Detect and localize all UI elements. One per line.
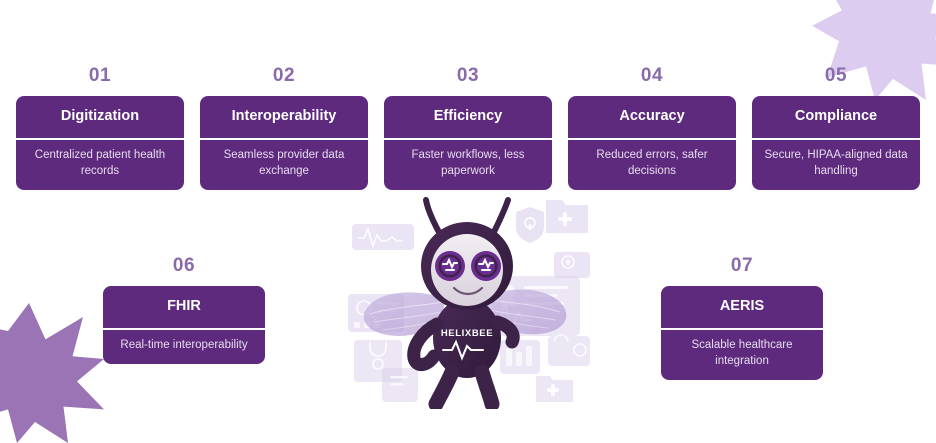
head (421, 222, 513, 310)
eye-right (471, 251, 501, 281)
eye-left (435, 251, 465, 281)
card-title: Digitization (16, 96, 184, 138)
card-body: AERIS Scalable healthcare integration (661, 286, 823, 380)
card-number: 03 (457, 66, 479, 85)
card-number: 05 (825, 66, 847, 85)
card-title: FHIR (103, 286, 265, 328)
card-body: Accuracy Reduced errors, safer decisions (568, 96, 736, 190)
feature-card-digitization[interactable]: 01 Digitization Centralized patient heal… (16, 66, 184, 190)
card-description: Scalable healthcare integration (661, 330, 823, 380)
card-number: 04 (641, 66, 663, 85)
feature-card-fhir[interactable]: 06 FHIR Real-time interoperability (103, 256, 265, 364)
card-title: Accuracy (568, 96, 736, 138)
card-title: AERIS (661, 286, 823, 328)
card-number: 02 (273, 66, 295, 85)
starburst-bottom-left-icon (0, 303, 104, 443)
card-body: Efficiency Faster workflows, less paperw… (384, 96, 552, 190)
feature-card-interoperability[interactable]: 02 Interoperability Seamless provider da… (200, 66, 368, 190)
feature-card-accuracy[interactable]: 04 Accuracy Reduced errors, safer decisi… (568, 66, 736, 190)
card-description: Reduced errors, safer decisions (568, 140, 736, 190)
card-number: 07 (731, 256, 753, 275)
helixbee-mascot: HELIXBEE (340, 190, 595, 409)
feature-card-row-top: 01 Digitization Centralized patient heal… (16, 66, 920, 190)
feature-card-compliance[interactable]: 05 Compliance Secure, HIPAA-aligned data… (752, 66, 920, 190)
feature-card-aeris[interactable]: 07 AERIS Scalable healthcare integration (661, 256, 823, 380)
infographic-canvas: 01 Digitization Centralized patient heal… (0, 0, 936, 409)
card-description: Real-time interoperability (103, 330, 265, 364)
card-number: 06 (173, 256, 195, 275)
card-description: Faster workflows, less paperwork (384, 140, 552, 190)
card-body: Digitization Centralized patient health … (16, 96, 184, 190)
card-description: Secure, HIPAA-aligned data handling (752, 140, 920, 190)
card-title: Efficiency (384, 96, 552, 138)
card-body: FHIR Real-time interoperability (103, 286, 265, 364)
feature-card-efficiency[interactable]: 03 Efficiency Faster workflows, less pap… (384, 66, 552, 190)
card-body: Compliance Secure, HIPAA-aligned data ha… (752, 96, 920, 190)
card-body: Interoperability Seamless provider data … (200, 96, 368, 190)
card-title: Interoperability (200, 96, 368, 138)
card-number: 01 (89, 66, 111, 85)
card-description: Centralized patient health records (16, 140, 184, 190)
mascot-chest-label: HELIXBEE (441, 328, 493, 339)
card-description: Seamless provider data exchange (200, 140, 368, 190)
card-title: Compliance (752, 96, 920, 138)
